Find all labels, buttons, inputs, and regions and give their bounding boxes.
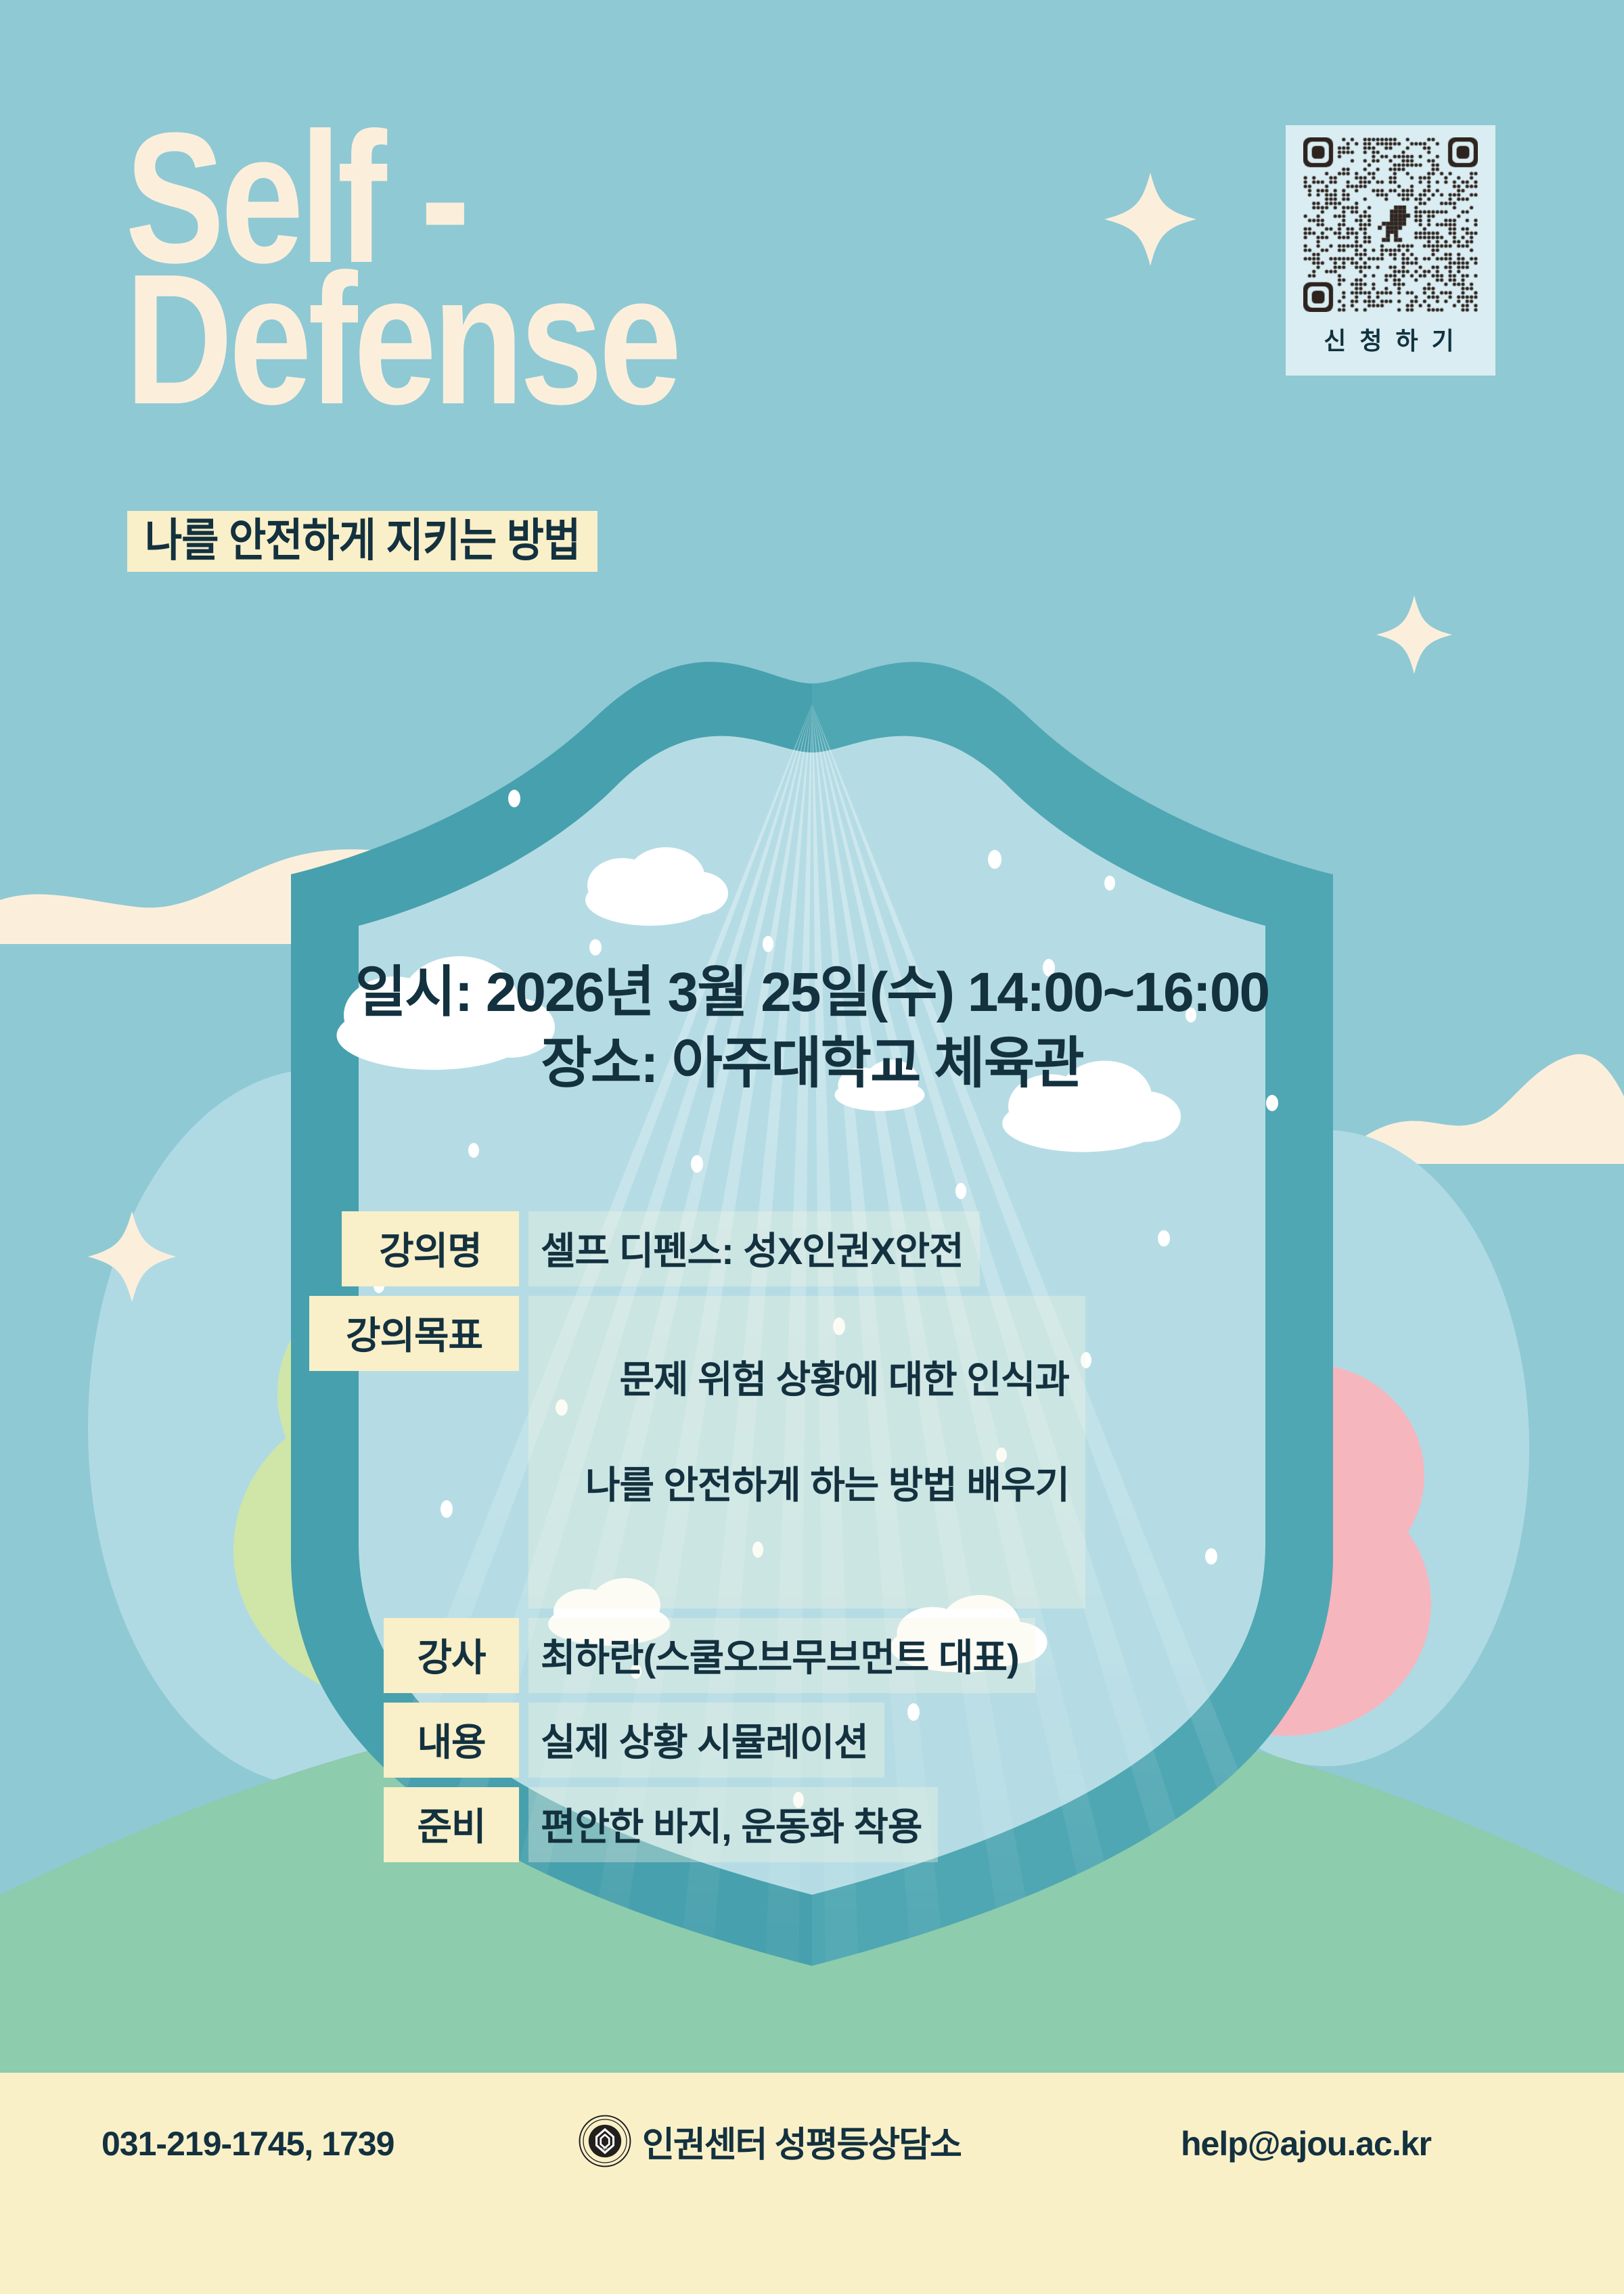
poster-subtitle: 나를 안전하게 지키는 방법 [145, 518, 580, 563]
table-row: 강사 최하란(스쿨오브무브먼트 대표) [0, 1618, 1624, 1693]
footer-org-group: 1973 인권센터 성평등상담소 [579, 2115, 961, 2167]
info-value-lecture-goal-line2: 나를 안전하게 하는 방법 배우기 [541, 1455, 1069, 1510]
poster-subtitle-band: 나를 안전하게 지키는 방법 [127, 511, 597, 572]
info-value-lecture-goal: 문제 위험 상황에 대한 인식과 나를 안전하게 하는 방법 배우기 [528, 1296, 1085, 1609]
table-row: 내용 실제 상황 시뮬레이션 [0, 1703, 1624, 1778]
schedule-block: 일시: 2026년 3월 25일(수) 14:00~16:00 장소: 아주대학… [0, 958, 1624, 1100]
info-value-instructor: 최하란(스쿨오브무브먼트 대표) [528, 1618, 1035, 1693]
qr-apply-label: 신 청 하 기 [1324, 321, 1458, 357]
footer-org-name: 인권센터 성평등상담소 [642, 2116, 961, 2167]
poster-root: Self - Defense 나를 안전하게 지키는 방법 신 청 하 기 일시… [0, 0, 1624, 2294]
title-line-2: Defense [125, 253, 678, 426]
info-label-content: 내용 [384, 1703, 519, 1778]
ajou-university-seal-icon: 1973 [579, 2115, 631, 2167]
qr-apply-block[interactable]: 신 청 하 기 [1286, 125, 1495, 376]
info-label-instructor: 강사 [384, 1618, 519, 1693]
info-label-preparation: 준비 [384, 1787, 519, 1862]
info-value-lecture-goal-line1: 문제 위험 상황에 대한 인식과 [619, 1358, 1068, 1401]
table-row: 강의명 셀프 디펜스: 성X인권X안전 [0, 1211, 1624, 1286]
schedule-datetime: 일시: 2026년 3월 25일(수) 14:00~16:00 [0, 958, 1624, 1029]
footer-bar: 031-219-1745, 1739 1973 인권센터 성평등상담소 help… [0, 2073, 1624, 2294]
info-table: 강의명 셀프 디펜스: 성X인권X안전 강의목표 문제 위험 상황에 대한 인식… [0, 1211, 1624, 1872]
info-value-preparation: 편안한 바지, 운동화 착용 [528, 1787, 938, 1862]
schedule-place: 장소: 아주대학교 체육관 [0, 1029, 1624, 1100]
svg-text:1973: 1973 [600, 2147, 610, 2152]
table-row: 강의목표 문제 위험 상황에 대한 인식과 나를 안전하게 하는 방법 배우기 [0, 1296, 1624, 1609]
info-label-lecture-goal: 강의목표 [309, 1296, 519, 1371]
footer-phone[interactable]: 031-219-1745, 1739 [101, 2124, 394, 2163]
poster-title: Self - Defense [125, 112, 689, 395]
info-value-content: 실제 상황 시뮬레이션 [528, 1703, 884, 1778]
qr-code-icon[interactable] [1303, 137, 1478, 312]
footer-email[interactable]: help@ajou.ac.kr [1181, 2124, 1431, 2163]
info-value-lecture-name: 셀프 디펜스: 성X인권X안전 [528, 1211, 980, 1286]
table-row: 준비 편안한 바지, 운동화 착용 [0, 1787, 1624, 1862]
info-label-lecture-name: 강의명 [342, 1211, 519, 1286]
